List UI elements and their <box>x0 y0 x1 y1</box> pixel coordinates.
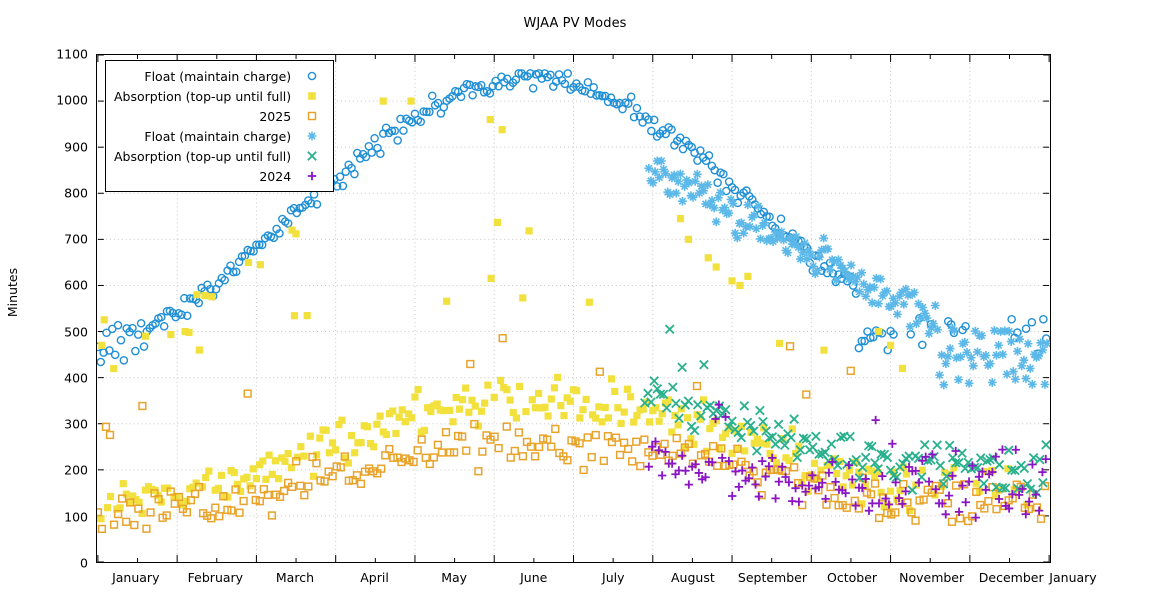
chart-legend[interactable]: Float (maintain charge)Absorption (top-u… <box>105 60 334 192</box>
data-point <box>740 402 748 410</box>
data-point <box>945 491 953 499</box>
y-tick-label: 900 <box>28 139 88 154</box>
data-point <box>351 170 358 177</box>
data-point <box>611 388 618 395</box>
data-point <box>1019 356 1028 365</box>
data-point <box>684 179 693 188</box>
data-point <box>507 454 514 461</box>
data-point <box>497 377 504 384</box>
data-point <box>484 382 491 389</box>
data-point <box>763 441 770 448</box>
data-point <box>596 368 603 375</box>
data-point <box>580 467 587 474</box>
data-point <box>724 209 733 218</box>
data-point <box>1028 319 1035 326</box>
data-point <box>415 386 422 393</box>
data-point <box>657 157 666 166</box>
data-point <box>936 461 944 469</box>
data-point <box>111 521 118 528</box>
data-point <box>167 331 174 338</box>
data-point <box>811 460 818 467</box>
data-point <box>348 432 355 439</box>
data-point <box>929 319 938 328</box>
data-point <box>685 236 692 243</box>
data-point <box>462 385 469 392</box>
data-point <box>338 417 345 424</box>
data-point <box>439 449 446 456</box>
data-point <box>736 282 743 289</box>
data-point <box>777 215 784 222</box>
data-point <box>935 371 944 380</box>
data-point <box>803 391 810 398</box>
data-point <box>982 351 991 360</box>
legend-item[interactable]: Absorption (top-up until full) <box>114 146 325 166</box>
y-axis-title: Minutes <box>5 268 20 317</box>
data-point <box>617 452 624 459</box>
data-point <box>323 427 330 434</box>
data-point <box>269 512 276 519</box>
data-point <box>633 105 640 112</box>
data-point <box>499 335 506 342</box>
data-point <box>950 326 959 335</box>
data-point <box>980 479 988 487</box>
data-point <box>516 383 523 390</box>
data-point <box>827 484 834 491</box>
data-point <box>792 232 801 241</box>
data-point <box>1009 367 1018 376</box>
data-point <box>700 361 708 369</box>
data-point <box>392 430 399 437</box>
data-point <box>783 248 792 257</box>
data-point <box>800 239 809 248</box>
data-point <box>605 414 612 421</box>
data-point <box>1038 468 1046 476</box>
data-point <box>147 509 154 516</box>
data-point <box>487 275 494 282</box>
data-point <box>411 393 418 400</box>
data-point <box>877 489 884 496</box>
data-point <box>912 319 921 328</box>
data-point <box>234 481 241 488</box>
data-point <box>139 403 146 410</box>
data-point <box>503 423 510 430</box>
data-point <box>945 441 953 449</box>
y-axis-ticks: 010020030040050060070080090010001100 <box>22 54 88 563</box>
data-point <box>888 440 896 448</box>
data-point <box>313 451 320 458</box>
data-point <box>541 404 548 411</box>
data-point <box>1029 454 1037 462</box>
data-point <box>205 467 212 474</box>
data-point <box>297 443 304 450</box>
data-point <box>665 190 674 199</box>
data-point <box>661 440 668 447</box>
x-axis-ticks: JanuaryFebruaryMarchAprilMayJuneJulyAugu… <box>96 566 1051 596</box>
data-point <box>532 404 539 411</box>
data-point <box>684 397 692 405</box>
data-point <box>443 298 450 305</box>
data-point <box>479 448 486 455</box>
data-point <box>446 407 453 414</box>
data-point <box>212 504 219 511</box>
data-point <box>453 394 460 401</box>
data-point <box>216 513 223 520</box>
data-point <box>400 127 407 134</box>
data-point <box>560 412 567 419</box>
data-point <box>465 409 472 416</box>
legend-item-label: Absorption (top-up until full) <box>114 89 291 104</box>
data-point <box>240 498 247 505</box>
data-point <box>218 472 225 479</box>
data-point <box>646 418 653 425</box>
data-point <box>583 396 590 403</box>
data-point <box>790 415 798 423</box>
data-point <box>756 406 764 414</box>
data-point <box>753 447 761 455</box>
data-point <box>910 288 919 297</box>
x-tick-label: February <box>188 570 243 585</box>
data-point <box>598 418 605 425</box>
data-point <box>266 452 273 459</box>
data-point <box>396 414 403 421</box>
data-point <box>963 348 972 357</box>
data-point <box>807 251 816 260</box>
data-point <box>899 365 906 372</box>
data-point <box>831 495 838 502</box>
data-point <box>988 378 997 387</box>
data-point <box>884 502 891 509</box>
data-point <box>1020 464 1028 472</box>
data-point <box>699 186 708 195</box>
data-point <box>579 406 586 413</box>
x-tick-label: November <box>899 570 964 585</box>
data-point <box>787 343 794 350</box>
data-point <box>564 70 571 77</box>
data-point <box>846 432 854 440</box>
data-point <box>120 357 127 364</box>
x-tick-label: March <box>276 570 314 585</box>
data-point <box>592 432 599 439</box>
data-point <box>949 518 956 525</box>
data-point <box>956 353 965 362</box>
data-point <box>995 461 1003 469</box>
data-point <box>900 481 907 488</box>
y-tick-label: 500 <box>28 324 88 339</box>
data-point <box>576 414 583 421</box>
data-point <box>429 92 436 99</box>
data-point <box>674 177 683 186</box>
legend-item-label: Absorption (top-up until full) <box>114 149 291 164</box>
data-point <box>584 434 591 441</box>
data-point <box>872 480 879 487</box>
data-point <box>380 98 387 105</box>
data-point <box>694 401 702 409</box>
y-tick-label: 1000 <box>28 93 88 108</box>
data-point <box>123 491 130 498</box>
data-point <box>861 453 869 461</box>
page-title: WJAA PV Modes <box>0 16 1150 31</box>
data-point <box>776 340 783 347</box>
data-point <box>756 235 765 244</box>
data-point <box>567 398 574 405</box>
data-point <box>590 84 597 91</box>
data-point <box>774 420 782 428</box>
data-point <box>536 444 543 451</box>
data-point <box>373 421 380 428</box>
data-point <box>630 418 637 425</box>
data-point <box>608 375 615 382</box>
data-point <box>1038 346 1047 355</box>
data-point <box>196 346 203 353</box>
legend-item[interactable]: 2024 <box>114 166 325 186</box>
data-point <box>98 342 105 349</box>
data-point <box>820 347 827 354</box>
data-point <box>120 480 127 487</box>
data-point <box>595 403 602 410</box>
data-point <box>651 167 660 176</box>
data-point <box>716 188 725 197</box>
data-point <box>893 310 902 319</box>
data-point <box>131 522 138 529</box>
data-point <box>449 418 456 425</box>
data-point <box>414 447 421 454</box>
data-point <box>281 458 288 465</box>
data-point <box>535 390 542 397</box>
data-point <box>114 322 121 329</box>
data-point <box>693 170 702 179</box>
data-point <box>710 443 717 450</box>
data-point <box>291 312 298 319</box>
data-point <box>751 480 759 488</box>
data-point <box>243 474 250 481</box>
data-point <box>887 488 894 495</box>
data-point <box>666 325 674 333</box>
x-tick-label: August <box>671 570 715 585</box>
legend-item-label: Float (maintain charge) <box>144 69 291 84</box>
data-point <box>519 294 526 301</box>
data-point <box>815 253 824 262</box>
data-point <box>933 325 942 334</box>
legend-item[interactable]: Float (maintain charge) <box>114 126 325 146</box>
data-point <box>304 312 311 319</box>
data-point <box>826 265 835 274</box>
y-tick-label: 800 <box>28 185 88 200</box>
data-point <box>586 299 593 306</box>
data-point <box>779 236 788 245</box>
data-point <box>998 350 1007 359</box>
data-point <box>107 432 114 439</box>
data-point <box>919 341 926 348</box>
data-point <box>833 470 840 477</box>
data-point <box>990 326 999 335</box>
data-point <box>755 492 763 500</box>
data-point <box>600 457 607 464</box>
data-point <box>827 440 835 448</box>
data-point <box>459 396 466 403</box>
data-point <box>551 384 558 391</box>
data-point <box>376 413 383 420</box>
data-point <box>670 171 679 180</box>
data-point <box>185 329 192 336</box>
data-point <box>658 471 666 479</box>
data-point <box>1024 339 1033 348</box>
data-point <box>142 333 149 340</box>
data-point <box>733 234 742 243</box>
data-point <box>440 407 447 414</box>
x-tick-label: July <box>602 570 624 585</box>
data-point <box>250 465 257 472</box>
data-point <box>735 483 743 491</box>
legend-marker-open-square-icon <box>299 107 325 125</box>
data-point <box>904 499 911 506</box>
data-point <box>661 448 669 456</box>
data-point <box>1022 325 1029 332</box>
data-point <box>292 230 299 237</box>
data-point <box>357 439 364 446</box>
data-point <box>231 469 238 476</box>
data-point <box>985 498 992 505</box>
data-point <box>883 287 892 296</box>
data-point <box>876 275 885 284</box>
data-point <box>621 409 628 416</box>
data-point <box>831 478 839 486</box>
legend-marker-plus-icon <box>299 167 325 185</box>
data-point <box>703 180 712 189</box>
data-point <box>554 374 561 381</box>
data-point <box>750 211 759 220</box>
data-point <box>678 363 686 371</box>
data-point <box>861 292 870 301</box>
data-point <box>215 485 222 492</box>
legend-item[interactable]: Absorption (top-up until full) <box>114 86 325 106</box>
data-point <box>573 387 580 394</box>
data-point <box>743 200 752 209</box>
data-point <box>161 323 168 330</box>
data-point <box>515 429 522 436</box>
data-point <box>545 412 552 419</box>
legend-marker-asterisk-icon <box>299 127 325 145</box>
data-point <box>791 464 798 471</box>
data-point <box>957 515 964 522</box>
data-point <box>548 443 555 450</box>
data-point <box>602 404 609 411</box>
data-point <box>656 418 663 425</box>
y-tick-label: 200 <box>28 463 88 478</box>
data-point <box>103 423 110 430</box>
data-point <box>495 445 502 452</box>
data-point <box>672 399 680 407</box>
data-point <box>875 328 882 335</box>
data-point <box>511 448 518 455</box>
data-point <box>741 447 748 454</box>
data-point <box>301 492 308 499</box>
data-point <box>786 457 793 464</box>
data-point <box>691 177 700 186</box>
data-point <box>469 92 476 99</box>
data-point <box>798 248 807 257</box>
legend-item[interactable]: 2025 <box>114 106 325 126</box>
data-point <box>1040 316 1047 323</box>
data-point <box>316 435 323 442</box>
data-point <box>140 343 147 350</box>
data-point <box>655 173 664 182</box>
data-point <box>300 452 307 459</box>
data-point <box>104 504 111 511</box>
x-tick-label: January <box>1049 570 1096 585</box>
legend-item-label: 2024 <box>259 169 291 184</box>
legend-marker-open-circle-icon <box>299 67 325 85</box>
data-point <box>522 408 529 415</box>
data-point <box>637 463 644 470</box>
data-point <box>645 463 653 471</box>
data-point <box>871 416 879 424</box>
data-point <box>529 396 536 403</box>
data-point <box>694 383 701 390</box>
data-point <box>795 497 803 505</box>
data-point <box>110 365 117 372</box>
data-point <box>408 414 415 421</box>
y-tick-label: 0 <box>28 556 88 571</box>
legend-item[interactable]: Float (maintain charge) <box>114 66 325 86</box>
legend-item-label: 2025 <box>259 109 291 124</box>
data-point <box>855 287 864 296</box>
data-point <box>201 292 208 299</box>
data-point <box>673 435 680 442</box>
data-point <box>685 480 693 488</box>
data-point <box>530 85 537 92</box>
data-point <box>965 477 973 485</box>
data-point <box>819 234 828 243</box>
data-point <box>865 506 873 514</box>
data-point <box>847 261 856 270</box>
data-point <box>628 93 635 100</box>
data-point <box>418 436 425 443</box>
data-point <box>993 506 1000 513</box>
data-point <box>824 245 833 254</box>
data-point <box>329 439 336 446</box>
data-point <box>491 394 498 401</box>
data-point <box>986 359 995 368</box>
y-tick-label: 400 <box>28 370 88 385</box>
data-point <box>787 433 795 441</box>
data-point <box>933 441 941 449</box>
data-point <box>739 229 748 238</box>
data-point <box>684 414 691 421</box>
data-point <box>728 277 735 284</box>
data-point <box>494 219 501 226</box>
data-point <box>269 471 276 478</box>
data-point <box>307 433 314 440</box>
data-point <box>370 443 377 450</box>
y-tick-label: 700 <box>28 232 88 247</box>
data-point <box>624 386 631 393</box>
data-point <box>377 150 384 157</box>
data-point <box>1011 375 1020 384</box>
data-point <box>245 259 252 266</box>
data-point <box>931 301 940 310</box>
data-point <box>633 438 640 445</box>
x-tick-label: June <box>520 570 547 585</box>
data-point <box>669 383 677 391</box>
data-point <box>520 453 527 460</box>
data-point <box>237 488 244 495</box>
data-point <box>744 273 751 280</box>
data-point <box>399 406 406 413</box>
data-point <box>285 450 292 457</box>
data-point <box>944 352 953 361</box>
data-point <box>310 473 317 480</box>
data-point <box>262 476 269 483</box>
